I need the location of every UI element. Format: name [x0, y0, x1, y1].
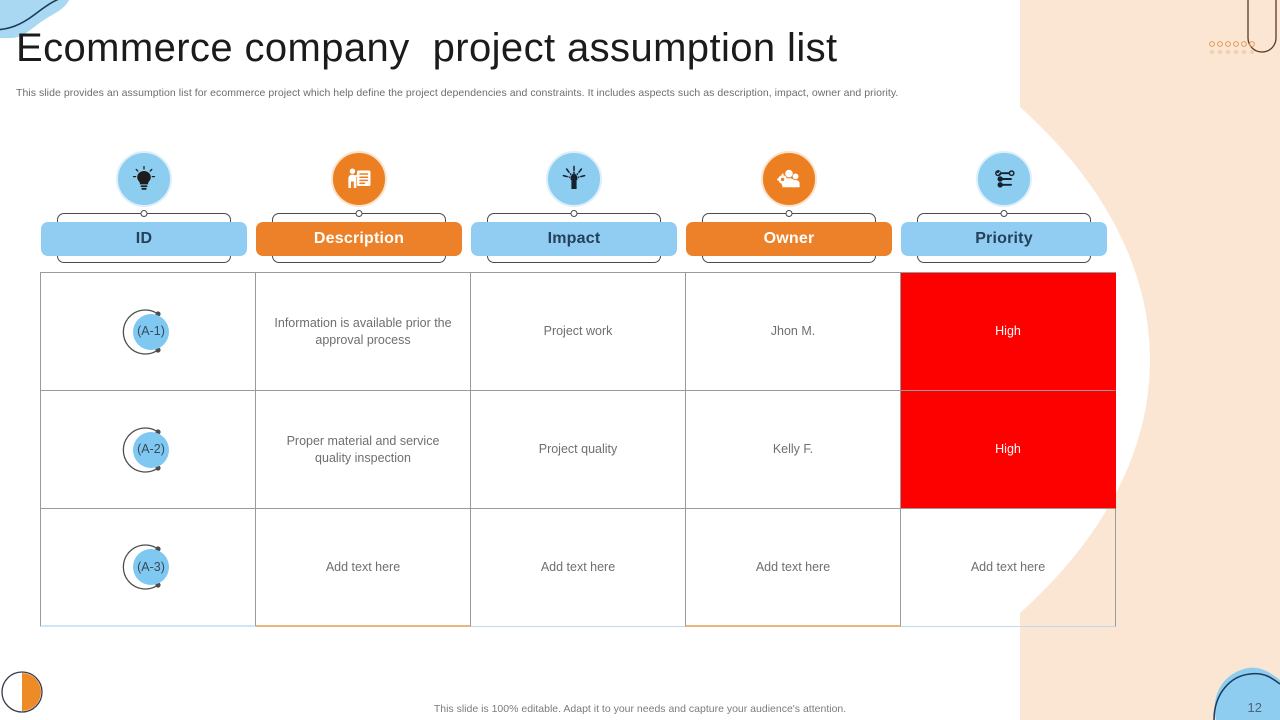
column-label-owner[interactable]: Owner: [686, 222, 892, 256]
column-header-owner[interactable]: Owner: [685, 148, 893, 268]
header-connector-knob: [356, 210, 363, 217]
page-title: Ecommerce company project assumption lis…: [16, 26, 838, 71]
checklist-slider-icon: [976, 151, 1032, 207]
cell-description: Proper material and service quality insp…: [256, 391, 471, 509]
assumption-table: (A-1) Information is available prior the…: [40, 272, 1116, 627]
id-badge: (A-1): [120, 304, 176, 360]
column-header-priority[interactable]: Priority: [900, 148, 1108, 268]
header-connector-knob: [141, 210, 148, 217]
column-header-impact[interactable]: Impact: [470, 148, 678, 268]
id-label: (A-3): [133, 549, 169, 585]
id-label: (A-1): [133, 314, 169, 350]
fist-impact-icon: [546, 151, 602, 207]
table-row: (A-3) Add text here Add text here Add te…: [40, 509, 1116, 627]
id-badge: (A-2): [120, 422, 176, 478]
cell-impact: Add text here: [471, 509, 686, 627]
user-gear-icon: [761, 151, 817, 207]
cell-priority: High: [901, 391, 1116, 509]
cell-priority: High: [901, 273, 1116, 391]
footer-note: This slide is 100% editable. Adapt it to…: [0, 703, 1280, 715]
lightbulb-icon: [116, 151, 172, 207]
column-label-priority[interactable]: Priority: [901, 222, 1107, 256]
column-label-description[interactable]: Description: [256, 222, 462, 256]
page-number: 12: [1248, 700, 1262, 715]
id-label: (A-2): [133, 432, 169, 468]
page-subtitle: This slide provides an assumption list f…: [16, 87, 898, 99]
cell-description: Information is available prior the appro…: [256, 273, 471, 391]
cell-id: (A-1): [40, 273, 256, 391]
header-connector-knob: [1001, 210, 1008, 217]
header-connector-knob: [571, 210, 578, 217]
slide-canvas: Ecommerce company project assumption lis…: [0, 0, 1280, 720]
cell-owner: Jhon M.: [686, 273, 901, 391]
table-row: (A-1) Information is available prior the…: [40, 273, 1116, 391]
cell-description: Add text here: [256, 509, 471, 627]
cell-owner: Kelly F.: [686, 391, 901, 509]
column-label-impact[interactable]: Impact: [471, 222, 677, 256]
id-badge: (A-3): [120, 539, 176, 595]
column-header-id[interactable]: ID: [40, 148, 248, 268]
header-connector-knob: [786, 210, 793, 217]
column-header-description[interactable]: Description: [255, 148, 463, 268]
presenter-board-icon: [331, 151, 387, 207]
cell-id: (A-2): [40, 391, 256, 509]
cell-impact: Project quality: [471, 391, 686, 509]
table-row: (A-2) Proper material and service qualit…: [40, 391, 1116, 509]
cell-impact: Project work: [471, 273, 686, 391]
column-header-row: ID Description: [40, 148, 1116, 268]
cell-owner: Add text here: [686, 509, 901, 627]
cell-id: (A-3): [40, 509, 256, 627]
cell-priority: Add text here: [901, 509, 1116, 627]
column-label-id[interactable]: ID: [41, 222, 247, 256]
